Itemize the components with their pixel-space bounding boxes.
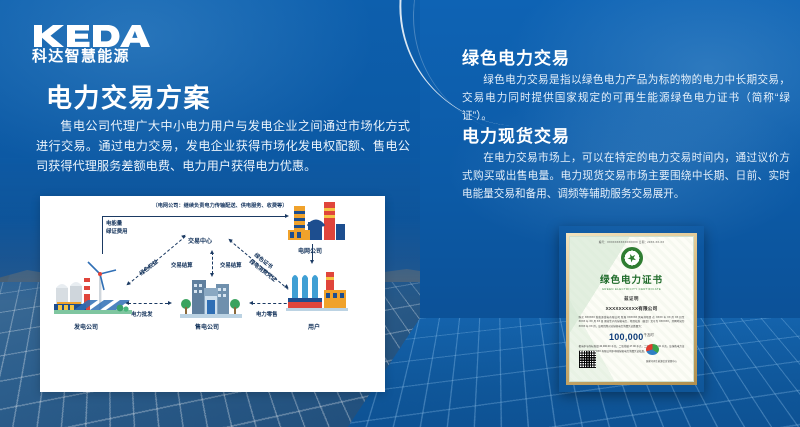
diagram-line-vertical-left	[102, 216, 103, 254]
certificate-issuer-logo-icon	[646, 344, 659, 355]
diagram-node-trading-center: 交易中心	[188, 236, 212, 245]
certificate-qr-code	[579, 351, 596, 368]
diagram-arrow-retail-left	[249, 301, 253, 305]
section-paragraph-green-power: 绿色电力交易是指以绿色电力产品为标的物的电力中长期交易，交易电力同时提供国家规定…	[462, 72, 790, 125]
power-generation-illustration	[54, 256, 132, 318]
section-heading-spot-trading: 电力现货交易	[462, 122, 570, 147]
green-electricity-certificate: 编号：XXXXXXXXXXXXXXXX 日期：20XX-XX-XX 绿色电力证书…	[569, 236, 694, 382]
diagram-node-retailer: 售电公司	[195, 322, 219, 331]
certificate-amount-unit: 千瓦时	[644, 333, 654, 337]
diagram-label-green-rights: 绿色权益	[138, 258, 160, 278]
electricity-retailer-illustration	[180, 274, 242, 320]
certificate-frame: 编号：XXXXXXXXXXXXXXXX 日期：20XX-XX-XX 绿色电力证书…	[559, 226, 704, 392]
certificate-company-name: XXXXXXXXXX有限公司	[606, 306, 658, 312]
certificate-amount: 100,000千瓦时	[609, 332, 654, 342]
diagram-node-grid: 电网公司	[298, 246, 322, 255]
grid-company-illustration	[288, 202, 346, 244]
user-factory-illustration	[286, 266, 348, 318]
certificate-title-english: GREEN ELECTRICITY CERTIFICATE	[602, 287, 661, 291]
certificate-title: 绿色电力证书	[600, 272, 663, 286]
diagram-line-top	[102, 216, 285, 217]
trading-flow-diagram: （电网公司：继续负责电力传输配送、供电服务、收费等） 电能量绿证费用 绿色权益 …	[40, 196, 385, 392]
section-paragraph-spot-trading: 在电力交易市场上，可以在特定的电力交易时间内，通过议价方式购买或出售电量。电力现…	[462, 150, 790, 203]
section-heading-green-power: 绿色电力交易	[462, 44, 570, 69]
page-title: 电力交易方案	[46, 78, 211, 115]
brand-logo-chinese: 科达智慧能源	[32, 49, 172, 66]
page-intro-paragraph: 售电公司代理广大中小电力用户与发电企业之间通过市场化方式进行交易。通过电力交易，…	[36, 117, 410, 176]
certificate-frame-inner: 编号：XXXXXXXXXXXXXXXX 日期：20XX-XX-XX 绿色电力证书…	[566, 233, 697, 385]
brand-logo: 科达智慧能源	[32, 24, 172, 66]
diagram-arrow-grid-user	[310, 260, 314, 264]
diagram-node-generator: 发电公司	[74, 322, 98, 331]
diagram-label-retail: 电力零售	[256, 310, 278, 318]
certificate-subtitle: 兹证明	[624, 296, 639, 302]
diagram-dash-settlement	[212, 252, 213, 274]
diagram-arrow-wholesale-right	[168, 301, 172, 305]
diagram-node-user: 用户	[308, 322, 320, 331]
diagram-label-settlement-left: 交易结算	[171, 261, 193, 269]
diagram-label-wholesale: 电力批发	[131, 310, 153, 318]
certificate-seal-icon	[621, 247, 643, 269]
certificate-body-text: 购买 XXXXXX 新能源发电有限公司 所属 XXXXXX 风电场项目 在 XX…	[579, 316, 685, 329]
keda-wordmark-icon	[32, 24, 150, 48]
trading-flow-diagram-card: （电网公司：继续负责电力传输配送、供电服务、收费等） 电能量绿证费用 绿色权益 …	[40, 196, 385, 392]
poster-root: 科达智慧能源 电力交易方案 售电公司代理广大中小电力用户与发电企业之间通过市场化…	[0, 0, 800, 427]
diagram-label-energy-fee: 电能量绿证费用	[106, 220, 128, 236]
diagram-dash-wholesale	[128, 303, 168, 304]
certificate-issuer: 国家可再生能源信息管理中心	[646, 359, 677, 363]
diagram-arrow-settlement-up	[210, 250, 214, 254]
certificate-serial-line: 编号：XXXXXXXXXXXXXXXX 日期：20XX-XX-XX	[599, 240, 665, 244]
diagram-label-settlement-right: 交易结算	[220, 261, 242, 269]
